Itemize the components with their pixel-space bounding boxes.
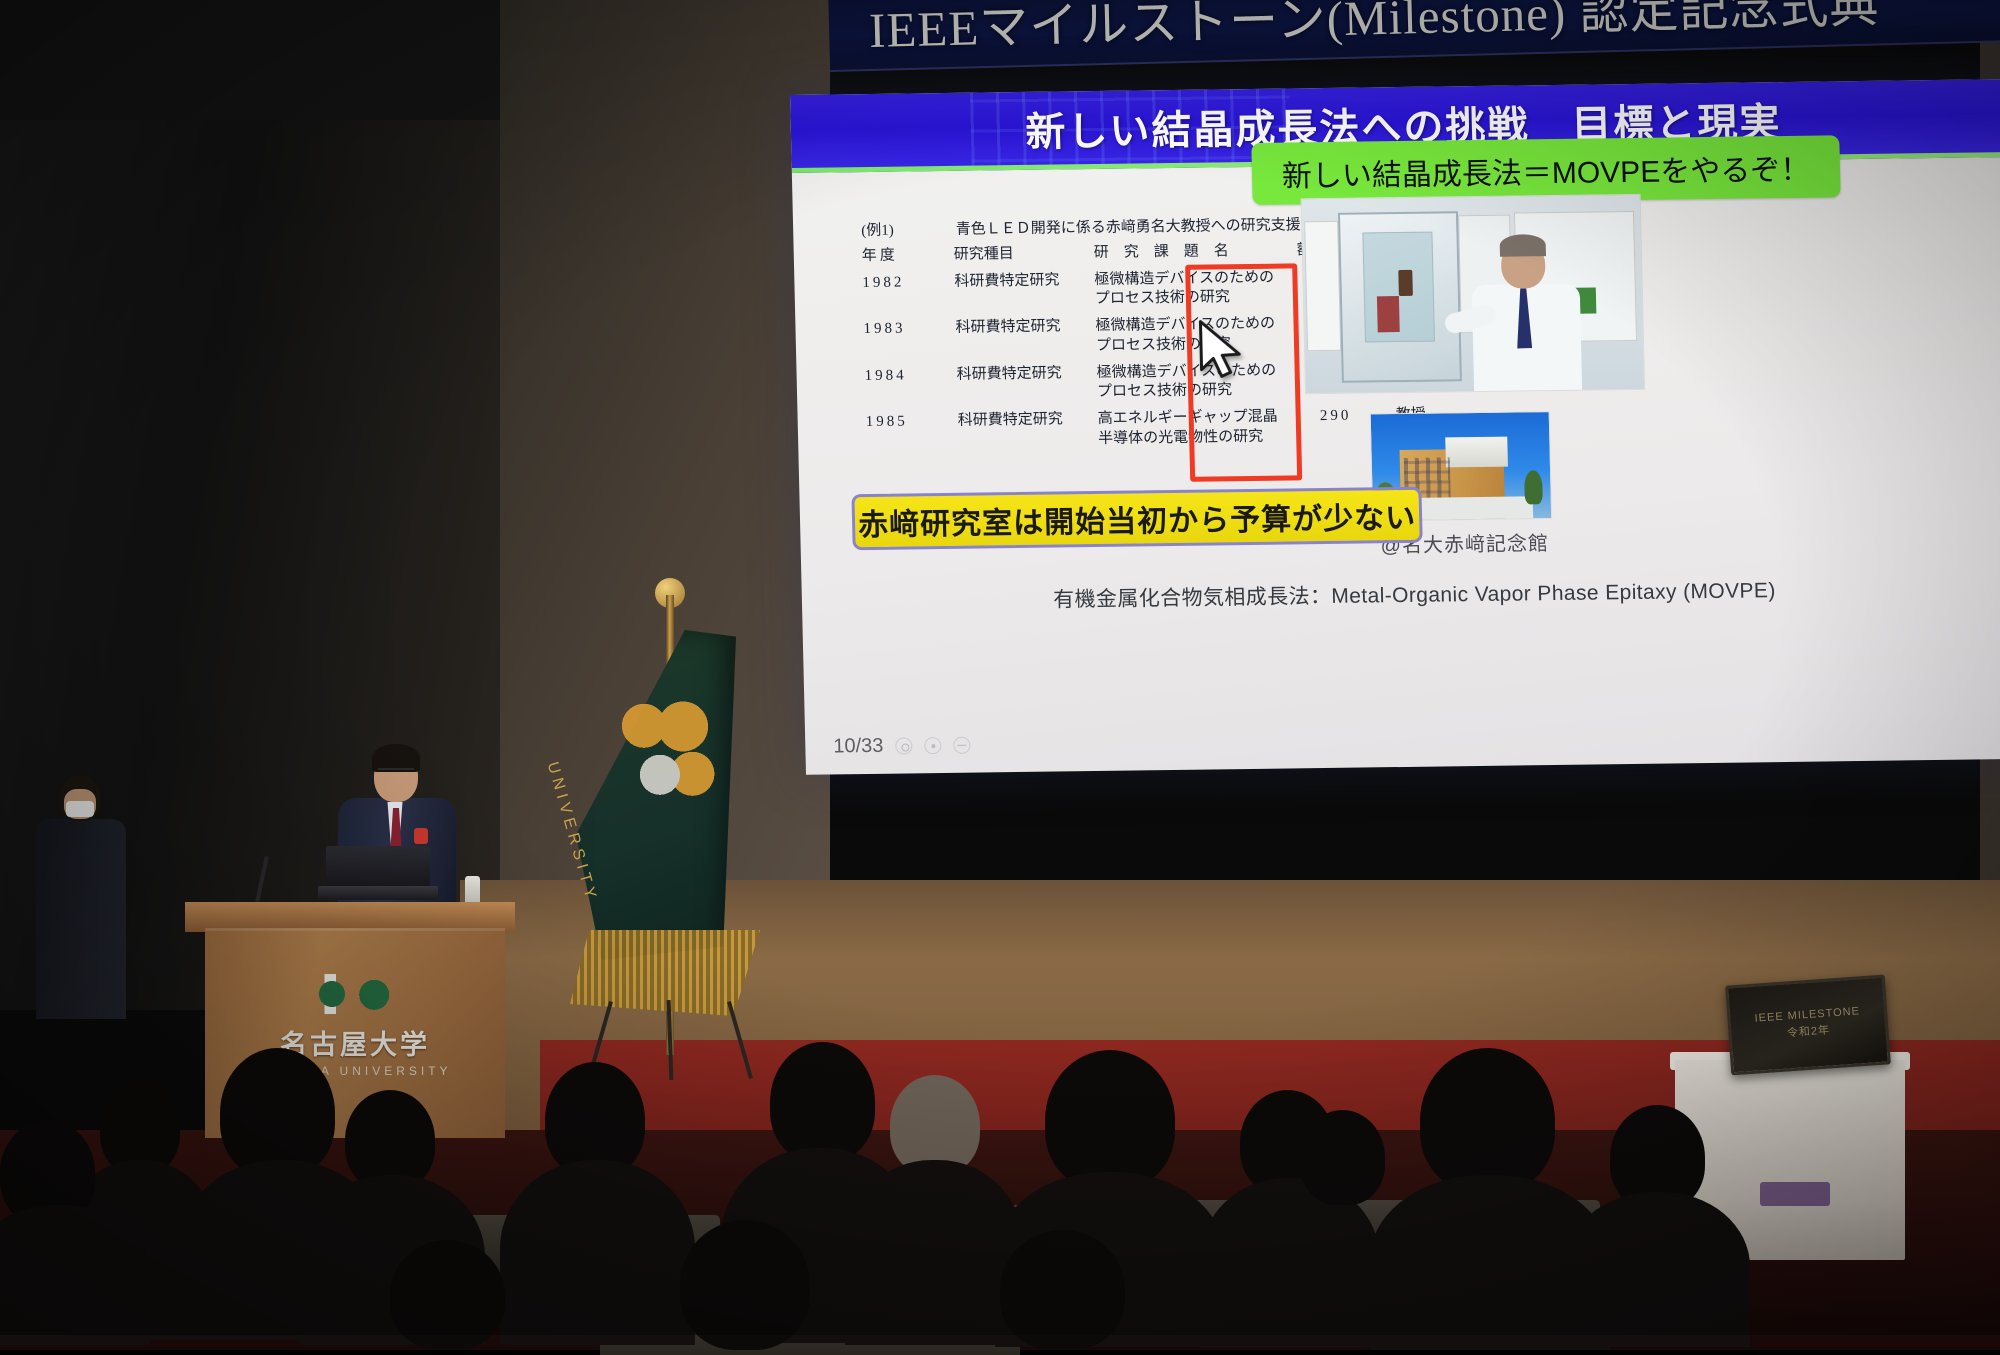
audience-head <box>1000 1230 1125 1350</box>
slide-surface: 新しい結晶成長法への挑戦 目標と現実 (例1) 青色ＬＥＤ開発に係る赤﨑勇名大教… <box>790 79 2000 775</box>
staff-member-left <box>30 775 130 1015</box>
face-mask-icon <box>66 801 94 817</box>
audience-head <box>1300 1110 1385 1205</box>
lab-bottle <box>1398 270 1413 296</box>
table-caption-text: 青色ＬＥＤ開発に係る赤﨑勇名大教授への研究支援 <box>956 218 1301 238</box>
header-kind: 研究種目 <box>954 246 1094 264</box>
slide-body: (例1) 青色ＬＥＤ開発に係る赤﨑勇名大教授への研究支援 年度 研究種目 研 究… <box>792 157 2000 775</box>
audience-head <box>1420 1048 1555 1193</box>
building-palm <box>1524 470 1543 504</box>
speaker-glasses-icon <box>378 768 414 777</box>
cell-theme: 高エネルギーギャップ混晶 <box>1098 410 1284 428</box>
slide-footnote: 有機金属化合物気相成長法：Metal-Organic Vapor Phase E… <box>802 571 2000 617</box>
cell-kind: 科研費特定研究 <box>956 365 1096 383</box>
cell-kind: 科研費特定研究 <box>955 319 1095 337</box>
laptop-keyboard[interactable] <box>318 886 438 900</box>
speaker-ribbon-badge <box>414 828 428 844</box>
cell-theme-line2: プロセス技術の研究 <box>1095 290 1230 308</box>
cell-year: 1983 <box>863 321 955 338</box>
cell-kind: 科研費特定研究 <box>954 273 1094 291</box>
nagoya-university-crest-icon <box>606 685 726 816</box>
slide-footer: 10/33 <box>833 734 971 759</box>
audience-shoulders <box>1565 1192 1750 1347</box>
cell-theme: 極微構造デバイスのための <box>1095 317 1281 335</box>
slide-page-number: 10/33 <box>833 735 884 759</box>
cell-theme: 極微構造デバイスのための <box>1094 270 1280 288</box>
cell-year: 1982 <box>862 274 954 291</box>
cell-kind: 科研費特定研究 <box>958 412 1098 430</box>
audience-head <box>220 1048 335 1178</box>
minus-icon[interactable] <box>953 737 970 754</box>
cell-theme-line2: 半導体の光電物性の研究 <box>1098 430 1263 448</box>
audience-shoulders <box>0 1205 150 1345</box>
audience <box>0 1000 2000 1340</box>
building-top-wing <box>1445 437 1508 468</box>
staff-body <box>36 819 126 1019</box>
lab-poster <box>1304 221 1341 351</box>
cell-year: 1985 <box>866 414 958 431</box>
cell-theme: 極微構造デバイスのための <box>1096 363 1282 381</box>
table-caption-label: (例1) <box>861 224 894 240</box>
lecture-hall-scene: IEEEマイルストーン(Milestone) 認定記念式典 新しい結晶成長法への… <box>0 0 2000 1335</box>
audience-head <box>1045 1050 1175 1190</box>
audience-head <box>680 1220 810 1350</box>
laptop-screen <box>326 846 430 890</box>
cell-year: 1984 <box>864 367 956 384</box>
venue-banner-text: IEEEマイルストーン(Milestone) 認定記念式典 <box>868 0 1880 62</box>
search-icon[interactable] <box>924 737 941 754</box>
cell-theme-line2: プロセス技術の研究 <box>1097 383 1232 401</box>
lab-equipment <box>1377 296 1400 332</box>
lab-person-hair <box>1499 234 1546 257</box>
audience-head <box>770 1042 875 1162</box>
projection-screen: 新しい結晶成長法への挑戦 目標と現実 (例1) 青色ＬＥＤ開発に係る赤﨑勇名大教… <box>790 79 2000 775</box>
yellow-emphasis-box: 赤﨑研究室は開始当初から予算が少ない <box>851 487 1422 550</box>
audience-head <box>390 1240 505 1350</box>
lab-photo <box>1301 194 1646 394</box>
venue-banner: IEEEマイルストーン(Milestone) 認定記念式典 <box>828 0 2000 72</box>
gear-icon[interactable] <box>895 737 912 754</box>
header-theme: 研 究 課 題 名 <box>1094 243 1280 261</box>
header-year: 年度 <box>862 248 954 265</box>
audience-shoulders <box>500 1160 695 1345</box>
